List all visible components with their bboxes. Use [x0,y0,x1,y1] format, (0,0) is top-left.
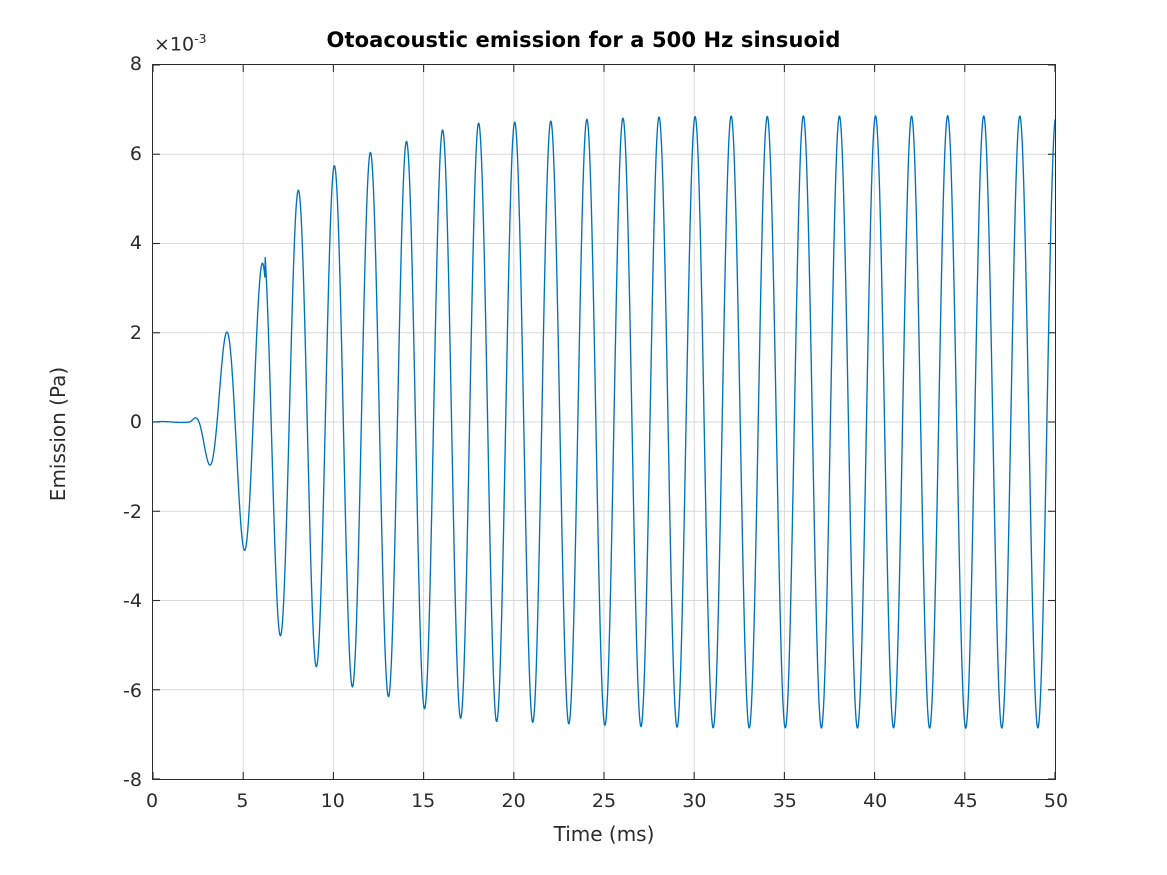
axes-box [152,64,1056,780]
y-tick-label: -8 [102,769,142,791]
x-tick-label: 10 [298,790,368,812]
figure-canvas: Otoacoustic emission for a 500 Hz sinsuo… [0,0,1167,875]
x-tick-label: 40 [840,790,910,812]
y-tick-label: -4 [102,590,142,612]
x-tick-label: 0 [117,790,187,812]
y-tick-label: -2 [102,501,142,523]
x-tick-label: 30 [659,790,729,812]
y-tick-label: 6 [102,143,142,165]
y-axis-exponent: ×10-3 [154,31,207,55]
x-tick-label: 45 [931,790,1001,812]
x-tick-label: 15 [388,790,458,812]
y-tick-labels: 86420-2-4-6-8 [96,0,142,875]
y-exponent-prefix: ×10 [154,33,194,55]
x-tick-label: 5 [207,790,277,812]
x-tick-labels: 05101520253035404550 [0,790,1167,820]
x-axis-label: Time (ms) [152,822,1056,846]
y-exponent-power: -3 [194,31,206,46]
y-tick-label: 8 [102,53,142,75]
y-tick-label: 0 [102,411,142,433]
x-tick-label: 20 [479,790,549,812]
x-tick-label: 35 [750,790,820,812]
y-tick-label: -6 [102,680,142,702]
y-axis-label: Emission (Pa) [46,324,70,544]
y-tick-label: 4 [102,232,142,254]
x-tick-label: 25 [569,790,639,812]
x-tick-label: 50 [1021,790,1091,812]
y-tick-label: 2 [102,322,142,344]
plot-svg [153,65,1055,779]
gridlines [153,65,1055,779]
